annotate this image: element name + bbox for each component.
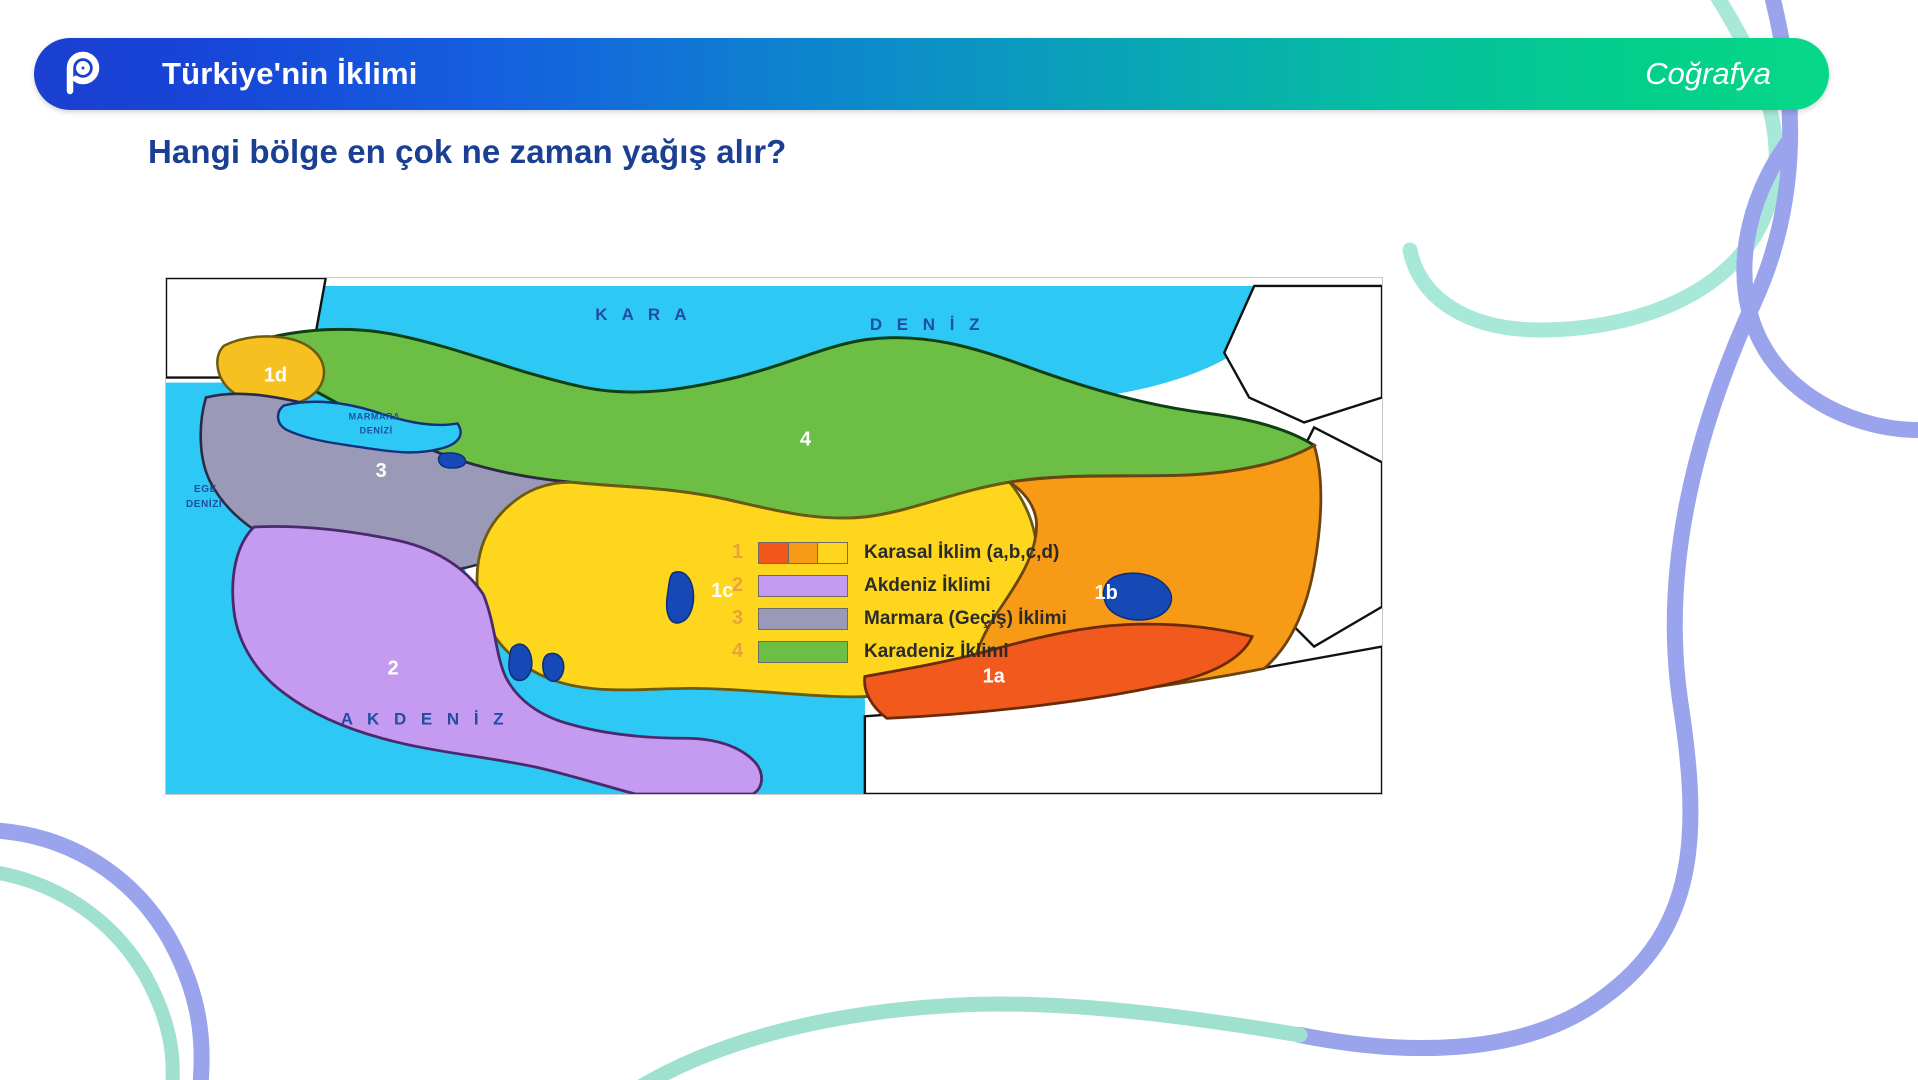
- region-label-2: 2: [388, 657, 399, 679]
- region-label-3: 3: [376, 460, 387, 482]
- swoosh-lavender-bottomleft: [0, 830, 202, 1080]
- lake-tuz-golu: [667, 572, 694, 623]
- legend-swatch-karasal: [758, 542, 848, 564]
- header-title: Türkiye'nin İklimi: [162, 56, 418, 92]
- legend-label: Karadeniz İklimi: [864, 641, 1009, 663]
- sea-label-kara-deniz: K A R A: [595, 305, 691, 324]
- sea-label-marmara-2: DENİZİ: [360, 425, 393, 435]
- legend-label: Karasal İklim (a,b,c,d): [864, 542, 1059, 564]
- sea-label-ege-2: DENİZİ: [186, 499, 222, 510]
- sea-label-ege: EGE: [194, 484, 217, 495]
- legend-label: Akdeniz İklimi: [864, 575, 991, 597]
- legend-swatch-marmara: [758, 608, 848, 630]
- region-label-1c: 1c: [711, 580, 733, 602]
- map-legend-container: 1 Karasal İklim (a,b,c,d) 2 Akdeniz İkli…: [732, 536, 1292, 668]
- legend-swatch-akdeniz: [758, 575, 848, 597]
- lake-iznik: [438, 453, 465, 468]
- legend-row: 4 Karadeniz İklimi: [732, 635, 1292, 668]
- swoosh-mint-bottomleft: [0, 870, 173, 1080]
- sea-label-marmara: MARMARA: [349, 411, 401, 421]
- lake-beysehir: [509, 644, 532, 680]
- swoosh-mint-bottom: [620, 1004, 1300, 1080]
- sea-label-akdeniz: A K D E N İ Z: [341, 709, 509, 728]
- lake-egirdir: [543, 654, 564, 682]
- p-logo-icon: [52, 47, 106, 101]
- region-label-1a: 1a: [983, 665, 1006, 687]
- legend-label: Marmara (Geçiş) İklimi: [864, 608, 1067, 630]
- legend-row: 2 Akdeniz İklimi: [732, 569, 1292, 602]
- sea-label-kara-deniz-2: D E N İ Z: [870, 315, 985, 334]
- legend-index: 2: [732, 574, 758, 597]
- region-label-4: 4: [800, 428, 811, 450]
- slide-root: Türkiye'nin İklimi Coğrafya Hangi bölge …: [0, 0, 1918, 1080]
- legend-index: 3: [732, 607, 758, 630]
- header-bar: Türkiye'nin İklimi Coğrafya: [34, 38, 1829, 110]
- header-subject-badge: Coğrafya: [1645, 56, 1771, 92]
- legend-index: 4: [732, 640, 758, 663]
- legend-row: 3 Marmara (Geçiş) İklimi: [732, 602, 1292, 635]
- question-text: Hangi bölge en çok ne zaman yağış alır?: [148, 133, 786, 171]
- region-label-1d: 1d: [264, 365, 287, 387]
- legend-row: 1 Karasal İklim (a,b,c,d): [732, 536, 1292, 569]
- turkey-climate-map: K A R A D E N İ Z MARMARA DENİZİ EGE DEN…: [165, 277, 1383, 795]
- legend-swatch-karadeniz: [758, 641, 848, 663]
- swoosh-lavender-loop: [1744, 140, 1918, 430]
- legend-index: 1: [732, 541, 758, 564]
